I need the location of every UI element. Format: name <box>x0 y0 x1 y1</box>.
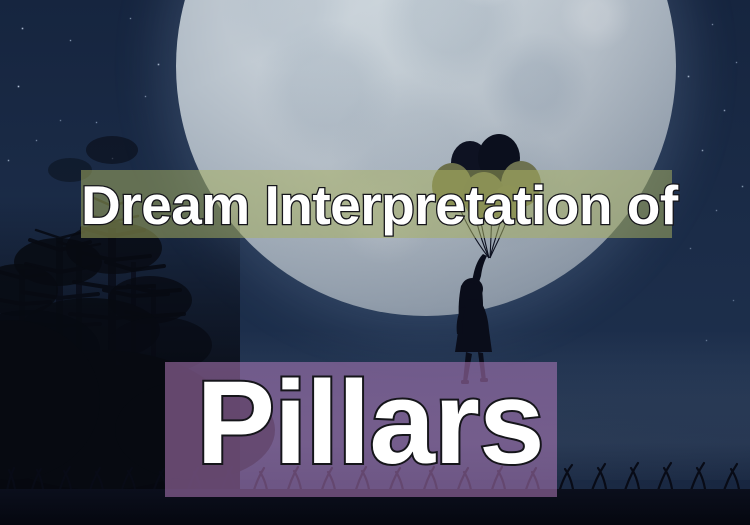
main-banner-title: Pillars <box>160 348 580 498</box>
poster-canvas: Dream Interpretation of Pillars <box>0 0 750 525</box>
stars-layer <box>0 0 1 1</box>
top-banner-title: Dream Interpretation of <box>81 166 681 244</box>
